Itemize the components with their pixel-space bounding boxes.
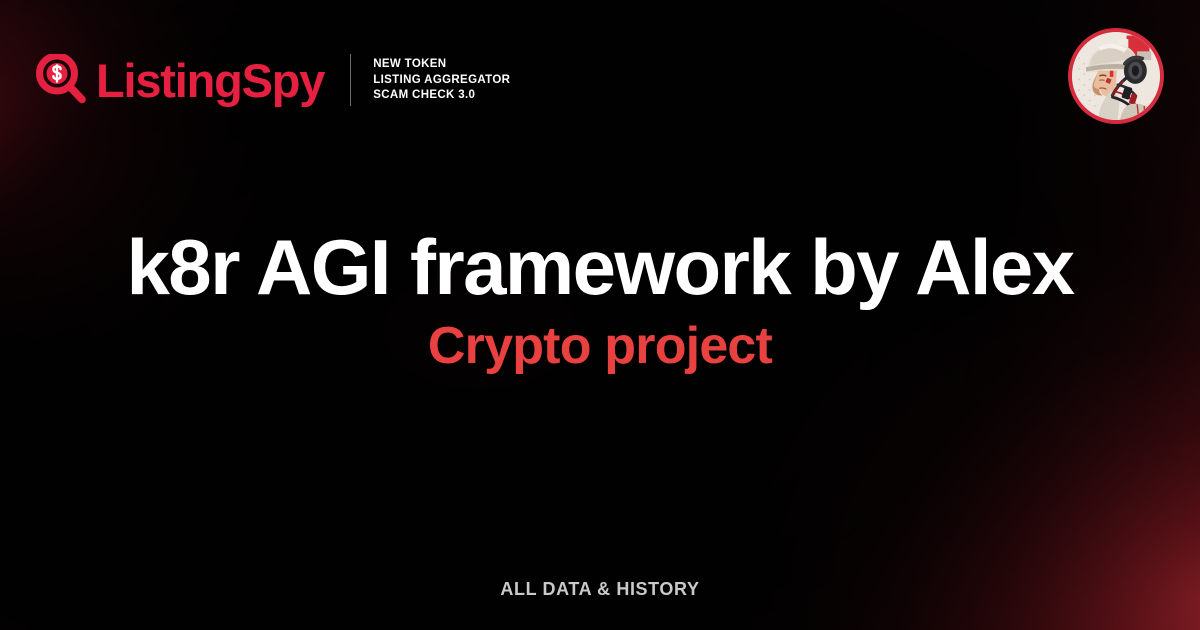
brand-name: ListingSpy [96, 57, 324, 104]
footer-text: ALL DATA & HISTORY [0, 579, 1200, 600]
header: ListingSpy NEW TOKEN LISTING AGGREGATOR … [0, 0, 1200, 176]
tagline-line-2: LISTING AGGREGATOR [373, 74, 510, 87]
magnifier-dollar-icon [36, 54, 88, 106]
tagline-line-1: NEW TOKEN [373, 58, 510, 71]
brand-logo[interactable]: ListingSpy NEW TOKEN LISTING AGGREGATOR … [36, 54, 510, 106]
page-title: k8r AGI framework by Alex [40, 228, 1160, 306]
soldier-profile-avatar-icon [1072, 32, 1160, 120]
brand-divider [350, 54, 351, 106]
og-card: ListingSpy NEW TOKEN LISTING AGGREGATOR … [0, 0, 1200, 630]
avatar[interactable] [1068, 28, 1164, 124]
avatar-image [1072, 32, 1160, 120]
brand-tagline: NEW TOKEN LISTING AGGREGATOR SCAM CHECK … [373, 58, 510, 103]
page-subtitle: Crypto project [40, 320, 1160, 372]
hero-block: k8r AGI framework by Alex Crypto project [0, 228, 1200, 372]
footer: ALL DATA & HISTORY [0, 579, 1200, 600]
tagline-line-3: SCAM CHECK 3.0 [373, 89, 510, 102]
